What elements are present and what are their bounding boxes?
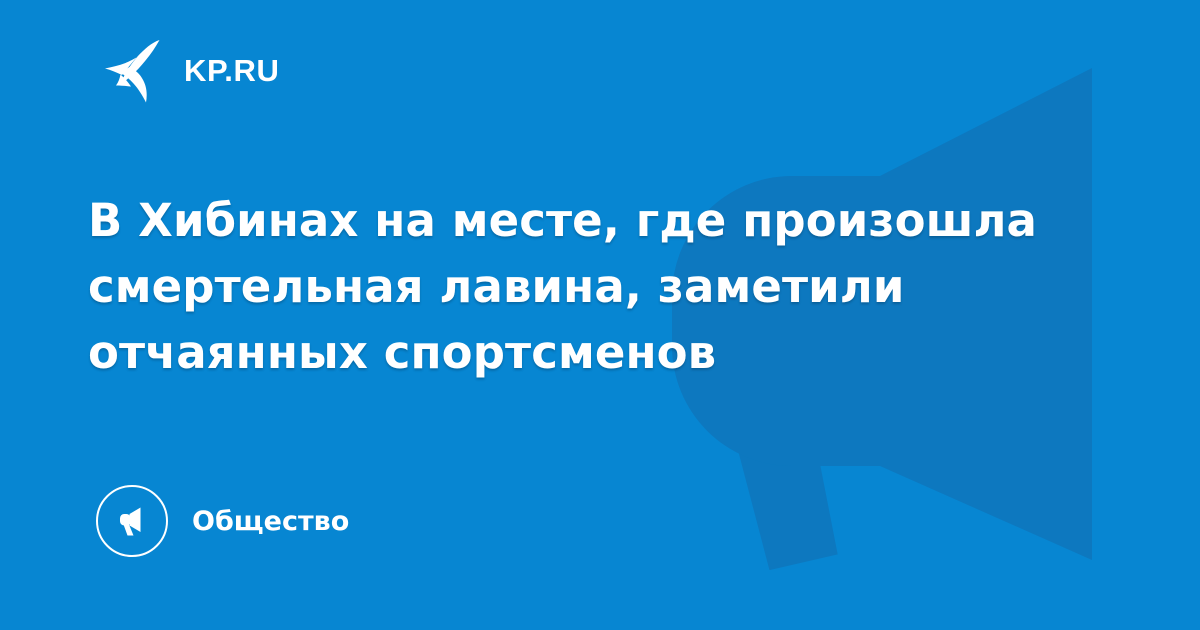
rubric[interactable]: Общество [96,485,349,557]
brand-logo[interactable]: KP.RU [96,34,279,106]
megaphone-icon [112,501,152,541]
page-title: В Хибинах на месте, где произошла смерте… [88,188,1098,386]
rubric-badge [96,485,168,557]
swallow-bird-icon [96,34,168,106]
rubric-label: Общество [192,508,349,535]
brand-name: KP.RU [184,55,279,86]
social-share-card: KP.RU В Хибинах на месте, где произошла … [0,0,1200,630]
